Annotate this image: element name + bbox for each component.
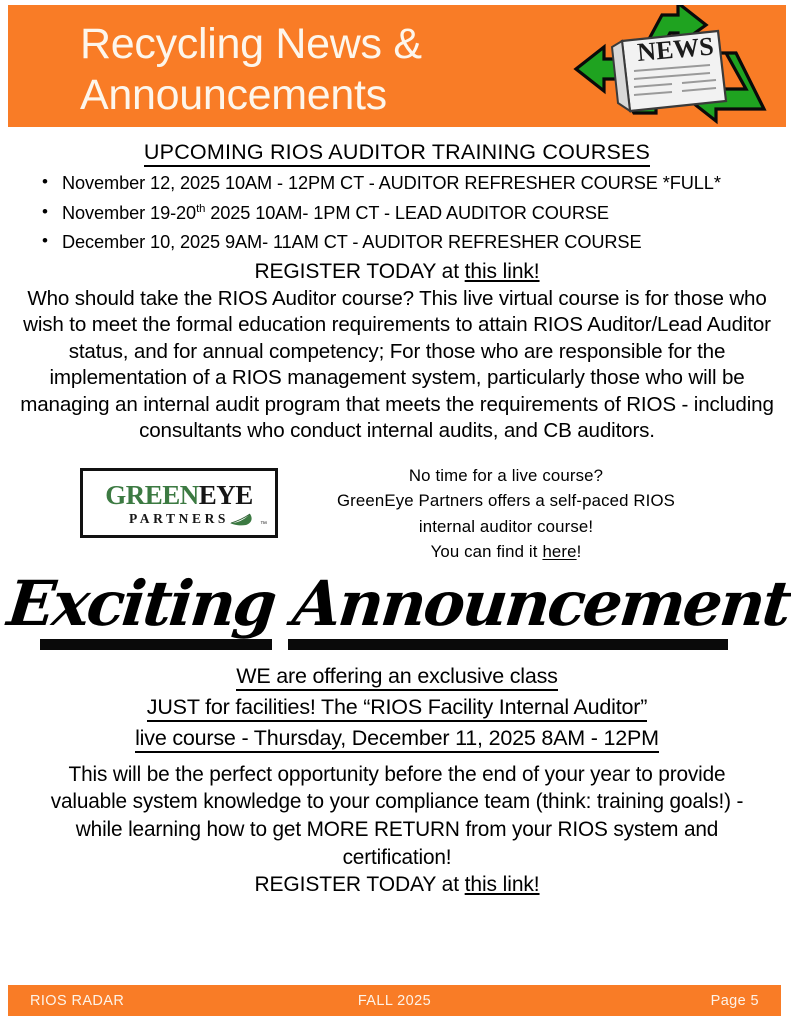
page-header-banner: Recycling News & Announcements NEWS	[8, 5, 786, 127]
courses-heading-text: UPCOMING RIOS AUDITOR TRAINING COURSES	[144, 140, 650, 167]
register-line-top: REGISTER TODAY at this link!	[8, 260, 786, 284]
headline-underline-right	[288, 639, 728, 650]
greeneye-wordmark: GREENEYE	[83, 480, 275, 511]
greeneye-section: GREENEYE PARTNERS ™ No time for a live c…	[8, 463, 786, 571]
exclusive-line-1: WE are offering an exclusive class	[8, 661, 786, 692]
recycling-newspaper-icon: NEWS	[560, 5, 782, 127]
footer-page-number: Page 5	[711, 993, 759, 1009]
exciting-announcement-headline-block: Exciting Announcement!	[8, 573, 786, 657]
footer-issue: FALL 2025	[124, 993, 710, 1009]
here-link[interactable]: here	[542, 542, 576, 561]
wordmark-green: GREEN	[105, 480, 199, 510]
headline-underline-left	[40, 639, 272, 650]
greeneye-promo-text: No time for a live course? GreenEye Part…	[294, 463, 718, 565]
exciting-announcement-headline: Exciting Announcement!	[4, 567, 790, 640]
exclusive-line-3-text: live course - Thursday, December 11, 202…	[135, 726, 659, 753]
exclusive-line-1-text: WE are offering an exclusive class	[236, 664, 557, 691]
promo-line-4: You can find it here!	[294, 539, 718, 565]
promo-line-4-suffix: !	[577, 542, 582, 561]
page-footer: RIOS RADAR FALL 2025 Page 5	[8, 985, 781, 1016]
course-text: November 19-20	[62, 203, 196, 223]
exclusive-line-2-text: JUST for facilities! The “RIOS Facility …	[147, 695, 647, 722]
course-text-cont: 2025 10AM- 1PM CT - LEAD AUDITOR COURSE	[205, 203, 609, 223]
leaf-icon	[229, 512, 259, 526]
course-text: November 12, 2025 10AM - 12PM CT - AUDIT…	[62, 173, 721, 193]
list-item: December 10, 2025 9AM- 11AM CT - AUDITOR…	[40, 228, 786, 258]
course-text: December 10, 2025 9AM- 11AM CT - AUDITOR…	[62, 232, 642, 252]
promo-line-1: No time for a live course?	[294, 463, 718, 489]
register-link-bottom[interactable]: this link!	[465, 873, 540, 896]
exclusive-line-3: live course - Thursday, December 11, 202…	[8, 723, 786, 754]
who-should-take-paragraph: Who should take the RIOS Auditor course?…	[20, 286, 774, 445]
promo-line-4-prefix: You can find it	[431, 542, 543, 561]
register-prefix: REGISTER TODAY at	[254, 260, 464, 283]
courses-heading: UPCOMING RIOS AUDITOR TRAINING COURSES	[8, 140, 786, 165]
greeneye-partners-logo: GREENEYE PARTNERS ™	[80, 468, 278, 538]
register-line-bottom: REGISTER TODAY at this link!	[8, 873, 786, 897]
promo-line-2: GreenEye Partners offers a self-paced RI…	[294, 488, 718, 514]
exclusive-class-lines: WE are offering an exclusive class JUST …	[8, 661, 786, 755]
register-link-top[interactable]: this link!	[465, 260, 540, 283]
wordmark-eye: EYE	[199, 480, 253, 510]
register-prefix-bottom: REGISTER TODAY at	[254, 873, 464, 896]
list-item: November 12, 2025 10AM - 12PM CT - AUDIT…	[40, 169, 786, 199]
upcoming-courses-list: November 12, 2025 10AM - 12PM CT - AUDIT…	[8, 169, 786, 258]
closing-paragraph: This will be the perfect opportunity bef…	[30, 761, 764, 872]
trademark-symbol: ™	[260, 521, 267, 528]
exclusive-line-2: JUST for facilities! The “RIOS Facility …	[8, 692, 786, 723]
page-title: Recycling News & Announcements	[80, 19, 550, 120]
ordinal-suffix: th	[196, 203, 205, 215]
page-content: UPCOMING RIOS AUDITOR TRAINING COURSES N…	[8, 132, 786, 897]
list-item: November 19-20th 2025 10AM- 1PM CT - LEA…	[40, 199, 786, 229]
footer-publication-name: RIOS RADAR	[30, 993, 124, 1009]
promo-line-3: internal auditor course!	[294, 514, 718, 540]
